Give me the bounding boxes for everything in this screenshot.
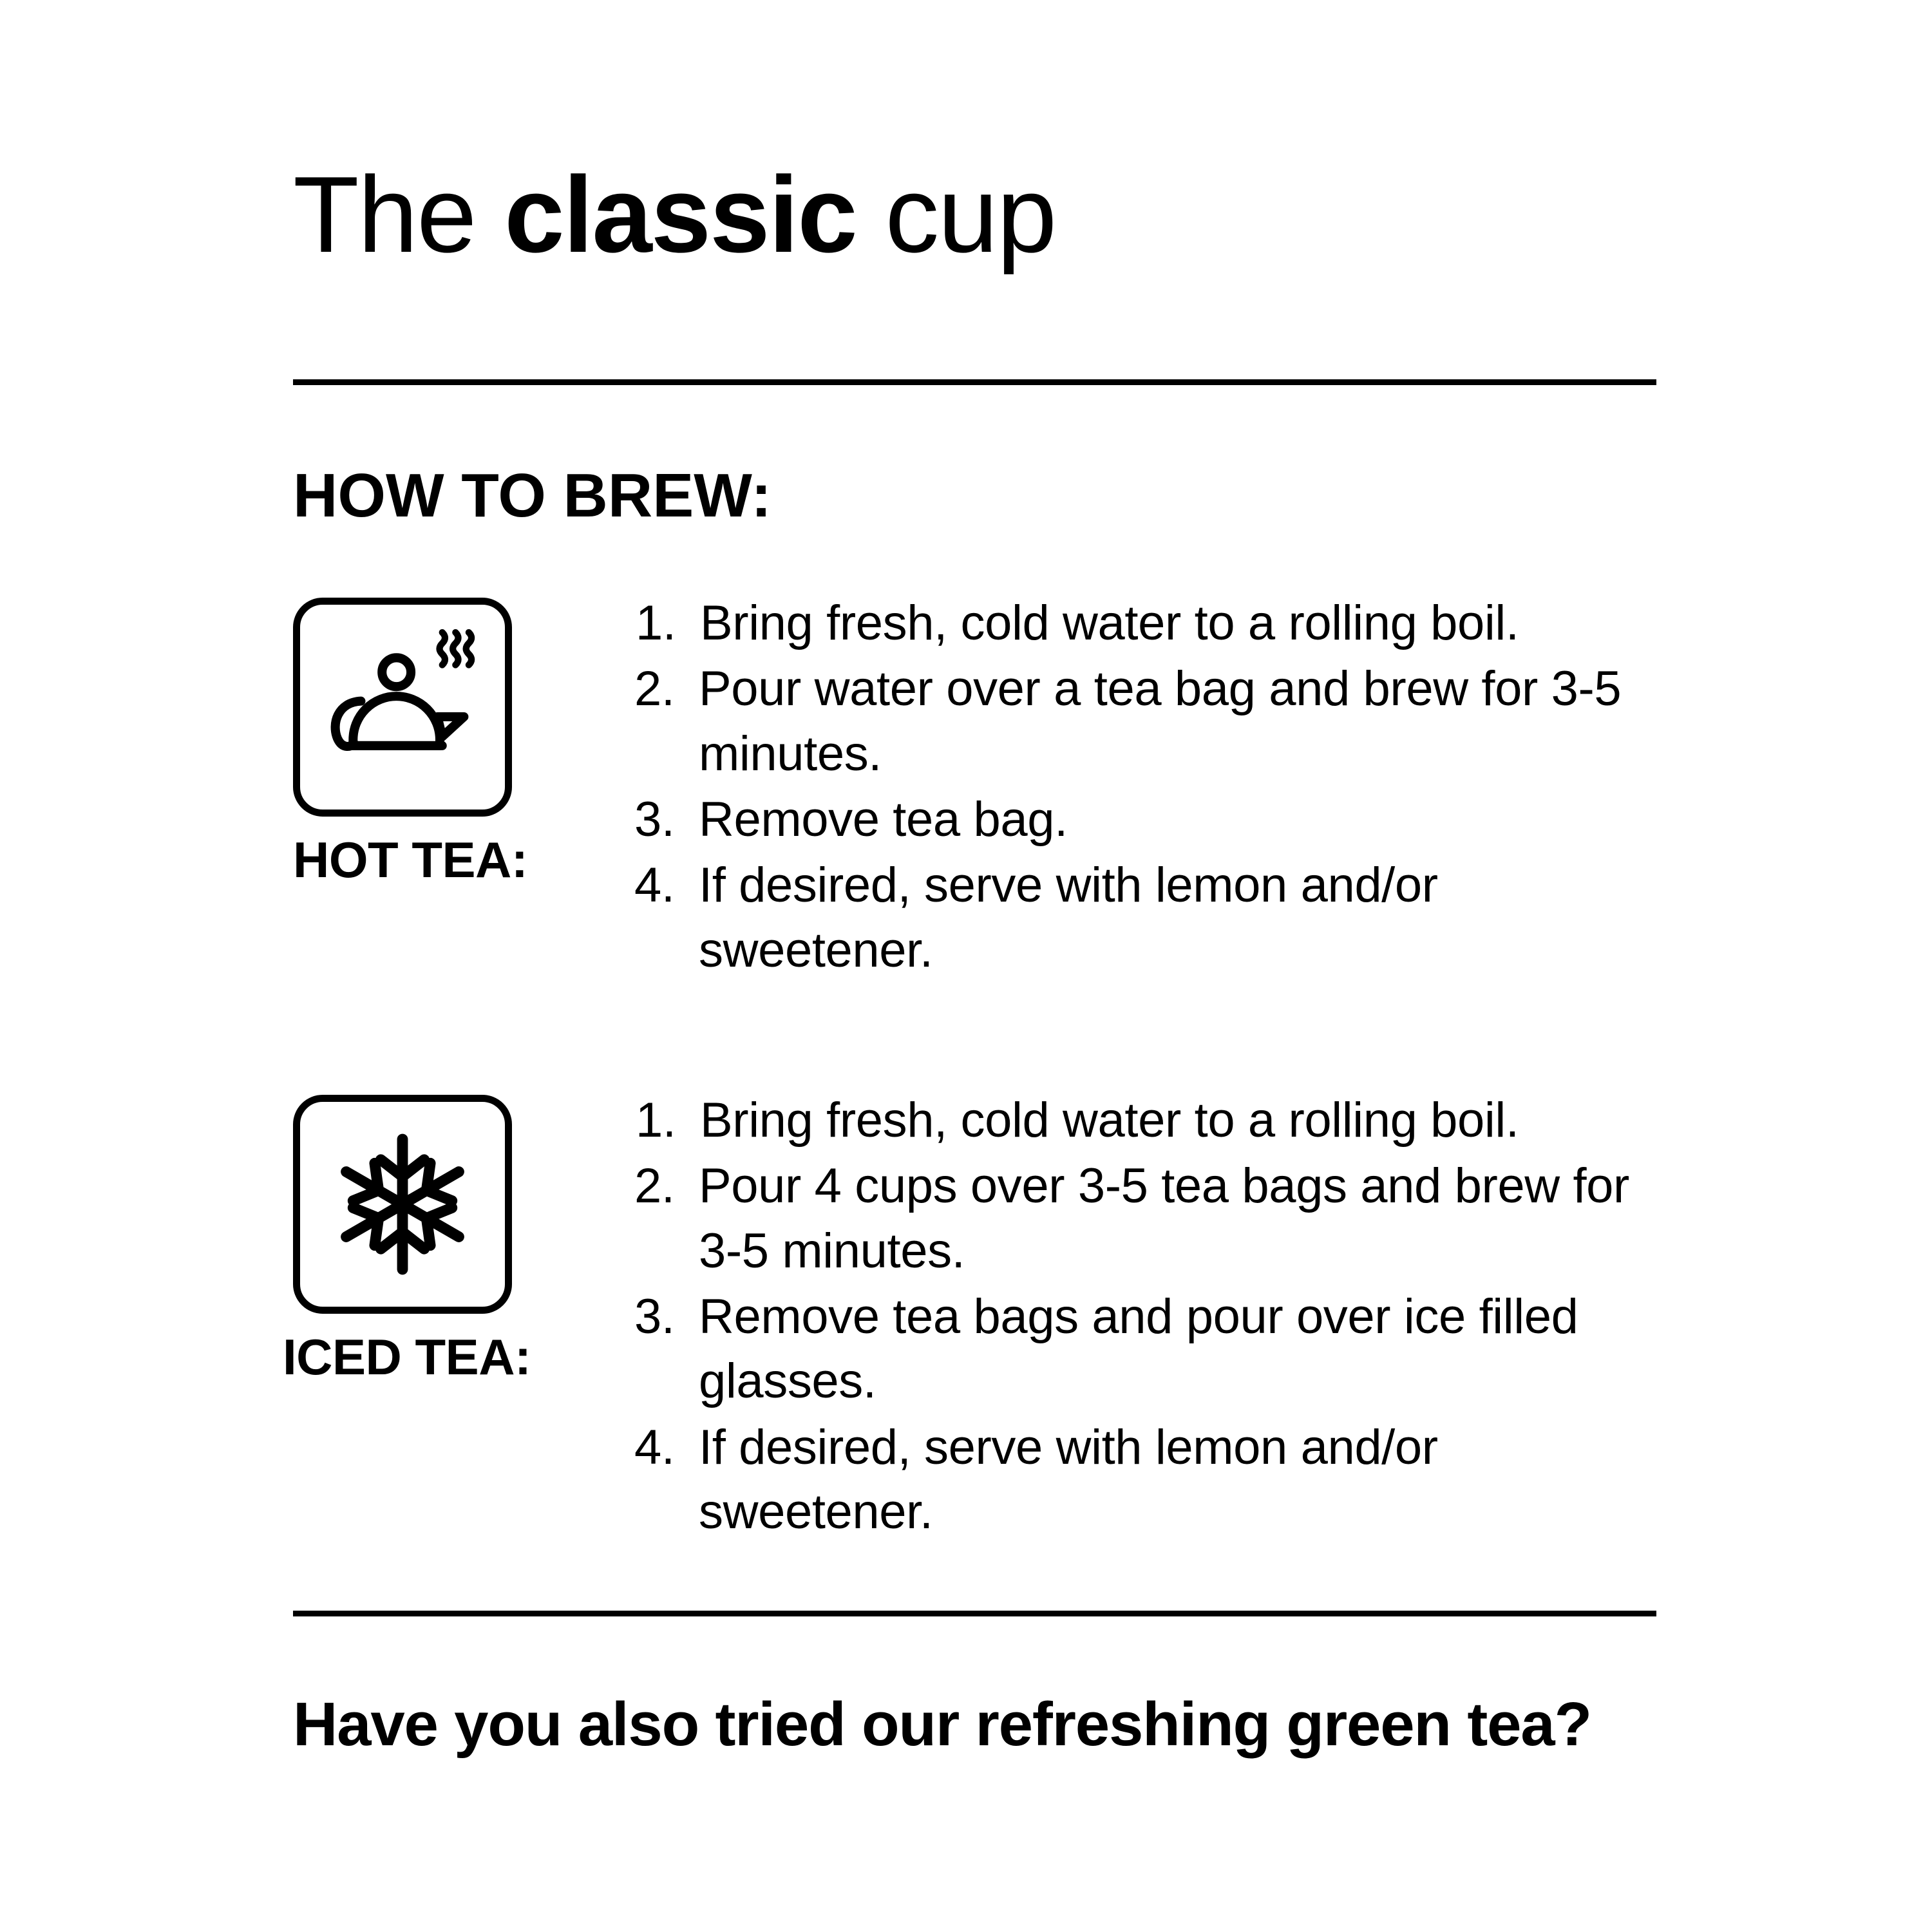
list-item: 4. If desired, serve with lemon and/or s… — [634, 853, 1665, 983]
hot-tea-steps: 1. Bring fresh, cold water to a rolling … — [634, 591, 1665, 984]
step-text: Remove tea bag. — [699, 788, 1665, 852]
footer-question: Have you also tried our refreshing green… — [293, 1694, 1665, 1756]
step-number: 4. — [634, 1416, 699, 1480]
list-item: 3. Remove tea bag. — [634, 788, 1665, 852]
step-text: Remove tea bags and pour over ice filled… — [699, 1285, 1665, 1414]
step-text: Bring fresh, cold water to a rolling boi… — [700, 1088, 1665, 1153]
brew-instructions-card: The classic cup HOW TO BREW: — [0, 0, 1932, 1932]
page-title: The classic cup — [293, 158, 1658, 271]
divider-bottom — [293, 1611, 1656, 1616]
list-item: 2. Pour 4 cups over 3-5 tea bags and bre… — [634, 1154, 1665, 1283]
iced-tea-label: ICED TEA: — [283, 1332, 589, 1382]
hot-tea-label: HOT TEA: — [293, 835, 589, 885]
list-item: 1. Bring fresh, cold water to a rolling … — [634, 1088, 1665, 1153]
kettle-steam-icon — [293, 598, 512, 817]
step-text: If desired, serve with lemon and/or swee… — [699, 1416, 1665, 1545]
list-item: 1. Bring fresh, cold water to a rolling … — [634, 591, 1665, 656]
how-to-brew-heading: HOW TO BREW: — [293, 465, 772, 527]
list-item: 2. Pour water over a tea bag and brew fo… — [634, 657, 1665, 786]
title-part-classic: classic — [504, 154, 857, 275]
title-part-the: The — [293, 154, 504, 275]
snowflake-icon — [293, 1095, 512, 1314]
hot-tea-icon-column: HOT TEA: — [293, 598, 589, 885]
divider-top — [293, 379, 1656, 385]
step-text: Bring fresh, cold water to a rolling boi… — [700, 591, 1665, 656]
iced-tea-steps: 1. Bring fresh, cold water to a rolling … — [634, 1088, 1665, 1546]
title-text: The classic cup — [293, 158, 1658, 271]
title-part-cup: cup — [857, 154, 1056, 275]
iced-tea-icon-column: ICED TEA: — [293, 1095, 589, 1382]
step-number: 3. — [634, 1285, 699, 1349]
step-number: 4. — [634, 853, 699, 918]
list-item: 4. If desired, serve with lemon and/or s… — [634, 1416, 1665, 1545]
step-number: 1. — [634, 1088, 700, 1153]
step-number: 3. — [634, 788, 699, 852]
step-text: Pour water over a tea bag and brew for 3… — [699, 657, 1665, 786]
step-number: 2. — [634, 657, 699, 721]
step-text: Pour 4 cups over 3-5 tea bags and brew f… — [699, 1154, 1665, 1283]
step-number: 2. — [634, 1154, 699, 1218]
step-number: 1. — [634, 591, 700, 656]
list-item: 3. Remove tea bags and pour over ice fil… — [634, 1285, 1665, 1414]
step-text: If desired, serve with lemon and/or swee… — [699, 853, 1665, 983]
